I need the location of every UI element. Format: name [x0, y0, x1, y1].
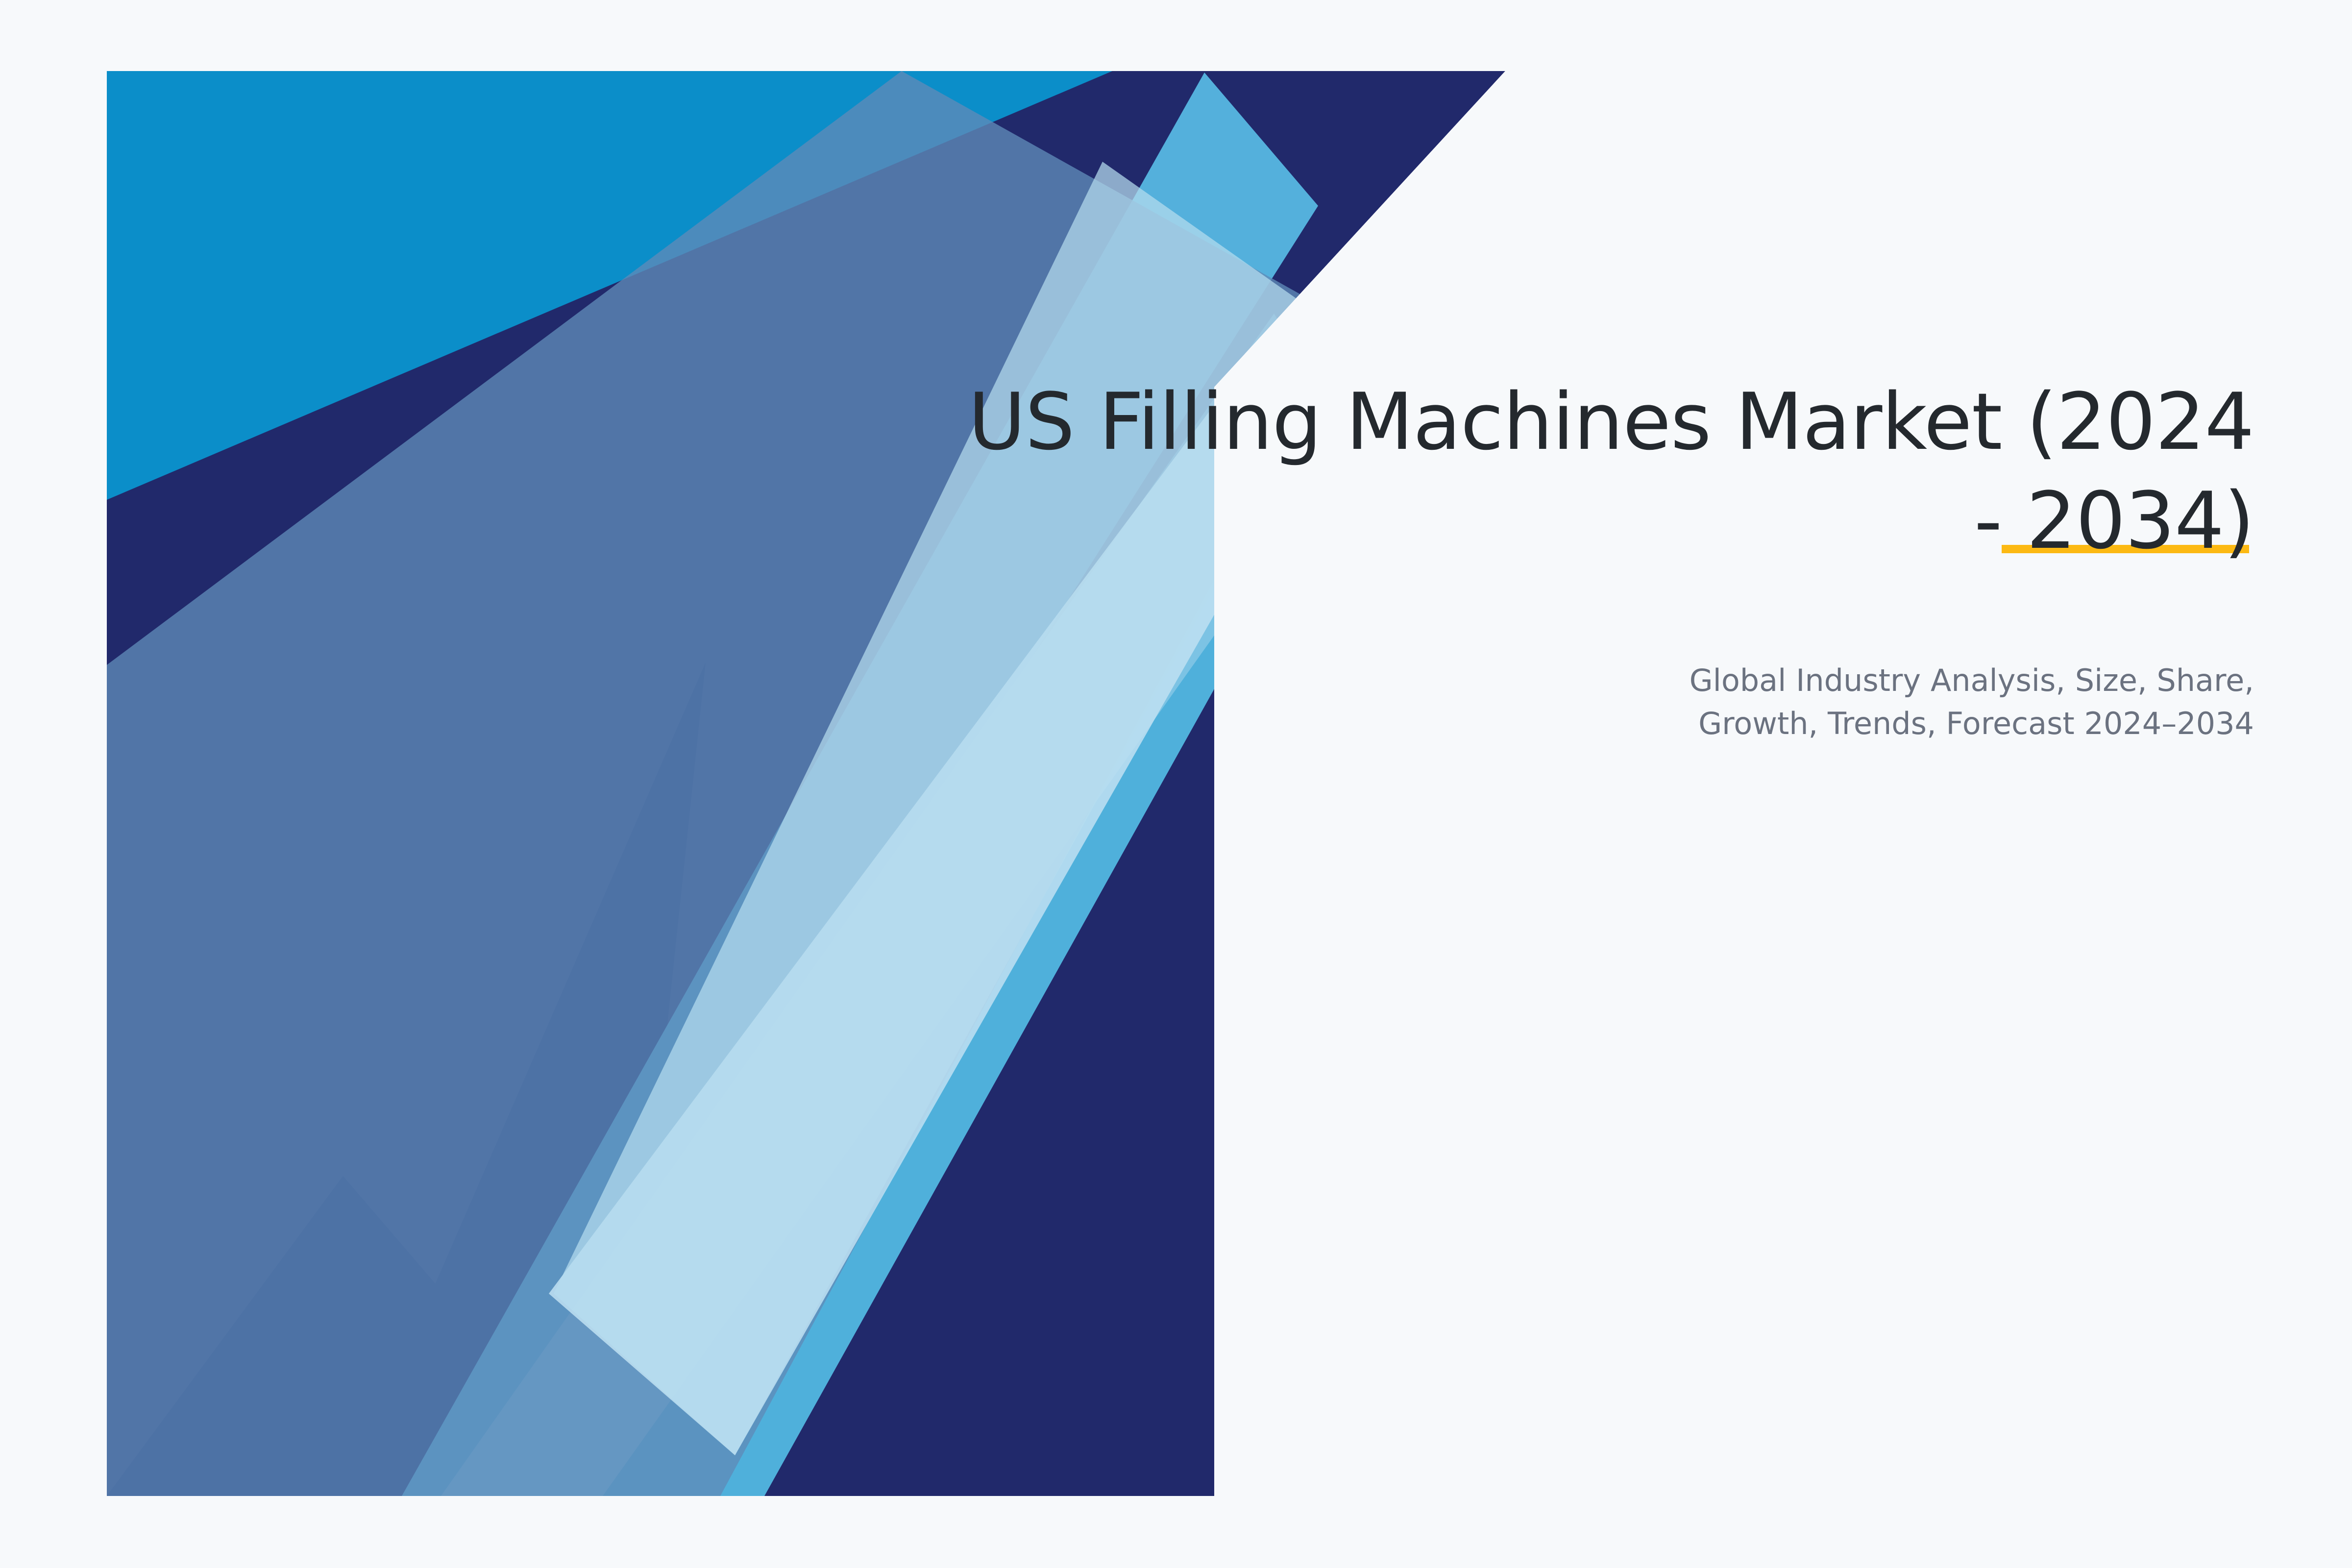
report-cover-page: US Filling Machines Market (2024 - 2034)… [0, 0, 2352, 1568]
page-title: US Filling Machines Market (2024 - 2034) [960, 372, 2254, 570]
cover-artwork [0, 0, 2352, 1568]
page-subtitle: Global Industry Analysis, Size, Share, G… [1612, 659, 2254, 745]
geometric-artwork-svg [0, 0, 2352, 1568]
title-wrapper: US Filling Machines Market (2024 - 2034) [960, 372, 2254, 570]
cover-text-block: US Filling Machines Market (2024 - 2034)… [960, 372, 2254, 745]
